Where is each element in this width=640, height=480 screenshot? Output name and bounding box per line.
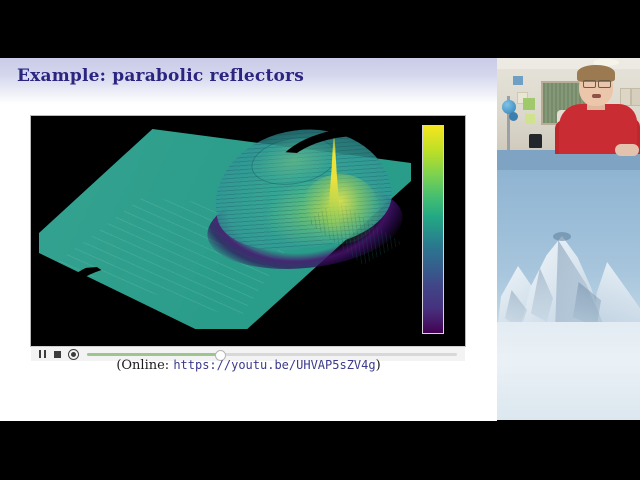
progress-fill xyxy=(87,353,220,356)
eyeglass-lens xyxy=(598,80,611,88)
right-column xyxy=(497,0,640,480)
viridis-colorbar xyxy=(422,125,444,334)
presenter-hand xyxy=(615,144,639,156)
stop-icon[interactable] xyxy=(54,351,61,358)
surface-plot xyxy=(39,124,429,339)
summit-rock-cap xyxy=(553,232,571,241)
video-canvas[interactable] xyxy=(31,116,465,346)
wall-poster xyxy=(523,98,535,110)
screen-capture: Example: parabolic reflectors xyxy=(0,0,640,480)
waste-bin xyxy=(529,134,542,148)
video-player[interactable] xyxy=(30,115,466,347)
caption-suffix: ) xyxy=(376,358,381,373)
wall-poster xyxy=(513,76,523,85)
video-url-link[interactable]: https://youtu.be/UHVAP5sZV4g xyxy=(173,358,375,372)
wall-poster xyxy=(525,114,535,123)
eyeglass-lens xyxy=(583,80,596,88)
pause-icon[interactable] xyxy=(39,350,46,358)
slide-title-bar: Example: parabolic reflectors xyxy=(0,58,497,104)
blue-sphere-model xyxy=(509,112,518,121)
snow-mountain-photo xyxy=(497,170,640,420)
ceiling xyxy=(497,58,640,69)
caption-prefix: (Online: xyxy=(116,358,173,373)
presenter-webcam[interactable] xyxy=(497,58,640,170)
presenter-mouth xyxy=(592,94,601,98)
presentation-slide: Example: parabolic reflectors xyxy=(0,58,497,421)
progress-slider[interactable] xyxy=(87,353,457,356)
snowfield xyxy=(497,322,640,420)
wall-poster xyxy=(631,88,640,106)
video-caption: (Online: https://youtu.be/UHVAP5sZV4g) xyxy=(0,358,497,373)
page-title: Example: parabolic reflectors xyxy=(17,66,304,86)
